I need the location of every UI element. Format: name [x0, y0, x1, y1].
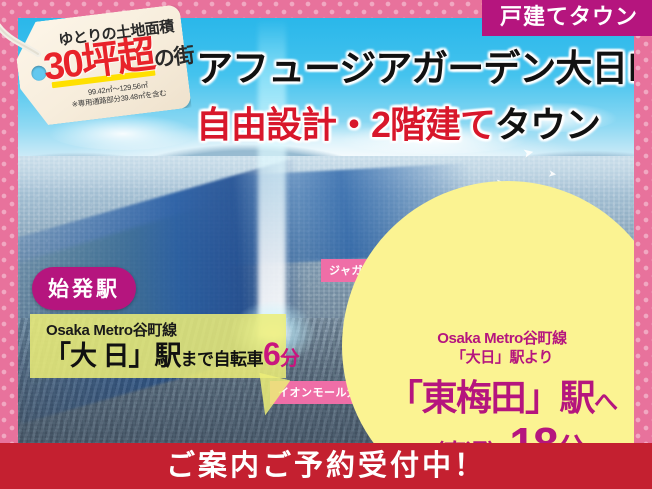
circle-origin-station: 「大日」駅より [382, 346, 622, 367]
access-mode-text: まで自転車 [181, 350, 264, 369]
circle-destination-suffix: へ [594, 389, 617, 416]
price-tag-string [0, 0, 42, 66]
cta-banner-text: ご案内ご予約受付中！ [0, 443, 652, 489]
cta-banner[interactable]: ご案内ご予約受付中！ [0, 443, 652, 489]
access-detail: 「大 日」駅まで自転車6分 [44, 338, 300, 370]
ad-subheadline: 自由設計・2階建てタウン [196, 96, 636, 148]
circle-destination: 「東梅田」駅へ [376, 380, 628, 416]
price-tag-small-text: の街 [153, 44, 196, 72]
access-line-label: Osaka Metro谷町線 [46, 319, 177, 340]
subheadline-red: 自由設計・2階建て [196, 104, 495, 145]
first-station-badge: 始発駅 [32, 267, 136, 310]
access-box-dainichi: Osaka Metro谷町線 「大 日」駅まで自転車6分 [30, 314, 286, 378]
circle-line-label: Osaka Metro谷町線 [382, 327, 622, 348]
circle-destination-station: 「東梅田」駅 [387, 377, 594, 418]
access-minutes: 6 [263, 336, 280, 372]
category-tag-detached-house: 戸建てタウン [482, 0, 652, 36]
border-frame-left [0, 0, 18, 489]
ad-headline: アフュージアガーデン大日Ⅱ [196, 38, 626, 92]
access-minutes-unit: 分 [280, 348, 300, 370]
bird-icon: ➤ [547, 169, 557, 180]
access-station-name: 「大 日」駅 [44, 341, 181, 371]
real-estate-banner-ad: ➤ ➤ ➤ ジャガータウン イオンモール大日 始発駅 Osaka Metro谷町… [0, 0, 652, 489]
border-frame-right [634, 0, 652, 489]
subheadline-black: タウン [495, 104, 600, 145]
